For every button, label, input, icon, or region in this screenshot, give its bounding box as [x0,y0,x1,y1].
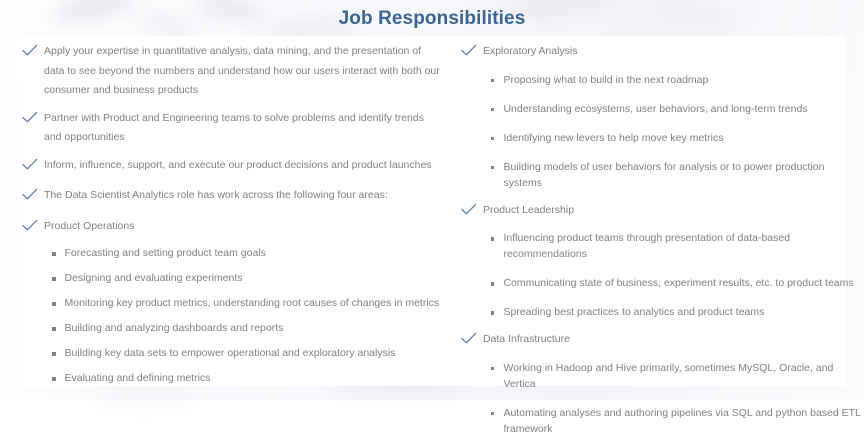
responsibility-text: Exploratory Analysis [483,42,578,62]
bullet-dot-icon [491,166,495,170]
bullet-text: Building and analyzing dashboards and re… [65,320,284,336]
responsibility-item: Product Leadership [461,201,864,221]
bullet-dot-icon [491,311,495,315]
bullet-dot-icon [491,108,495,112]
left-column: Apply your expertise in quantitative ana… [0,0,445,400]
responsibilities-columns: Apply your expertise in quantitative ana… [0,0,864,400]
responsibility-item: Inform, influence, support, and execute … [22,156,445,176]
list-item: Designing and evaluating experiments [52,270,445,286]
bullet-text: Forecasting and setting product team goa… [65,245,266,261]
bullet-text: Identifying new levers to help move key … [503,130,723,146]
check-icon [22,188,38,205]
bullet-dot-icon [52,327,56,331]
sub-bullet-list: Working in Hadoop and Hive primarily, so… [461,360,864,437]
bullet-text: Spreading best practices to analytics an… [503,304,764,320]
bullet-text: Understanding ecosystems, user behaviors… [503,101,807,117]
responsibility-text: The Data Scientist Analytics role has wo… [44,186,388,206]
bullet-text: Working in Hadoop and Hive primarily, so… [503,360,864,392]
responsibility-text: Data Infrastructure [483,330,570,350]
responsibility-item: Apply your expertise in quantitative ana… [22,42,445,101]
bullet-dot-icon [52,377,56,381]
bullet-dot-icon [491,412,495,416]
list-item: Working in Hadoop and Hive primarily, so… [491,360,864,392]
list-item: Influencing product teams through presen… [491,230,864,262]
responsibility-item: Exploratory Analysis [461,42,864,62]
bullet-dot-icon [491,137,495,141]
list-item: Spreading best practices to analytics an… [491,304,864,320]
list-item: Evaluating and defining metrics [52,370,445,386]
bullet-text: Building models of user behaviors for an… [503,159,864,191]
sub-bullet-list: Forecasting and setting product team goa… [22,245,445,386]
bullet-text: Automating analyses and authoring pipeli… [503,405,864,437]
bullet-text: Monitoring key product metrics, understa… [65,295,440,311]
page-title: Job Responsibilities [0,8,864,30]
check-icon [461,203,477,220]
bullet-dot-icon [491,367,495,371]
check-icon [22,158,38,175]
list-item: Building models of user behaviors for an… [491,159,864,191]
sub-bullet-list: Influencing product teams through presen… [461,230,864,320]
check-icon [22,219,38,236]
responsibility-text: Product Leadership [483,201,574,221]
list-item: Monitoring key product metrics, understa… [52,295,445,311]
bullet-text: Influencing product teams through presen… [503,230,864,262]
list-item: Communicating state of business, experim… [491,275,864,291]
check-icon [22,111,38,128]
sub-bullet-list: Proposing what to build in the next road… [461,72,864,191]
bullet-text: Communicating state of business, experim… [503,275,853,291]
bullet-text: Building key data sets to empower operat… [65,345,396,361]
bullet-dot-icon [52,352,56,356]
list-item: Building and analyzing dashboards and re… [52,320,445,336]
bullet-dot-icon [491,79,495,83]
check-icon [461,44,477,61]
bullet-text: Proposing what to build in the next road… [503,72,708,88]
check-icon [22,44,38,61]
responsibility-item: Data Infrastructure [461,330,864,350]
responsibility-text: Inform, influence, support, and execute … [44,156,432,176]
list-item: Identifying new levers to help move key … [491,130,864,146]
bullet-dot-icon [52,277,56,281]
responsibility-text: Partner with Product and Engineering tea… [44,109,444,148]
list-item: Proposing what to build in the next road… [491,72,864,88]
responsibility-item: Product Operations [22,217,445,237]
right-column: Exploratory Analysis Proposing what to b… [445,0,864,400]
list-item: Building key data sets to empower operat… [52,345,445,361]
bullet-dot-icon [491,237,495,241]
bullet-text: Designing and evaluating experiments [65,270,243,286]
responsibility-text: Product Operations [44,217,134,237]
list-item: Automating analyses and authoring pipeli… [491,405,864,437]
responsibility-text: Apply your expertise in quantitative ana… [44,42,444,101]
responsibility-item: Partner with Product and Engineering tea… [22,109,445,148]
bullet-dot-icon [52,252,56,256]
list-item: Forecasting and setting product team goa… [52,245,445,261]
responsibility-item: The Data Scientist Analytics role has wo… [22,186,445,206]
list-item: Understanding ecosystems, user behaviors… [491,101,864,117]
bullet-dot-icon [52,302,56,306]
bullet-text: Evaluating and defining metrics [65,370,211,386]
bullet-dot-icon [491,282,495,286]
check-icon [461,332,477,349]
